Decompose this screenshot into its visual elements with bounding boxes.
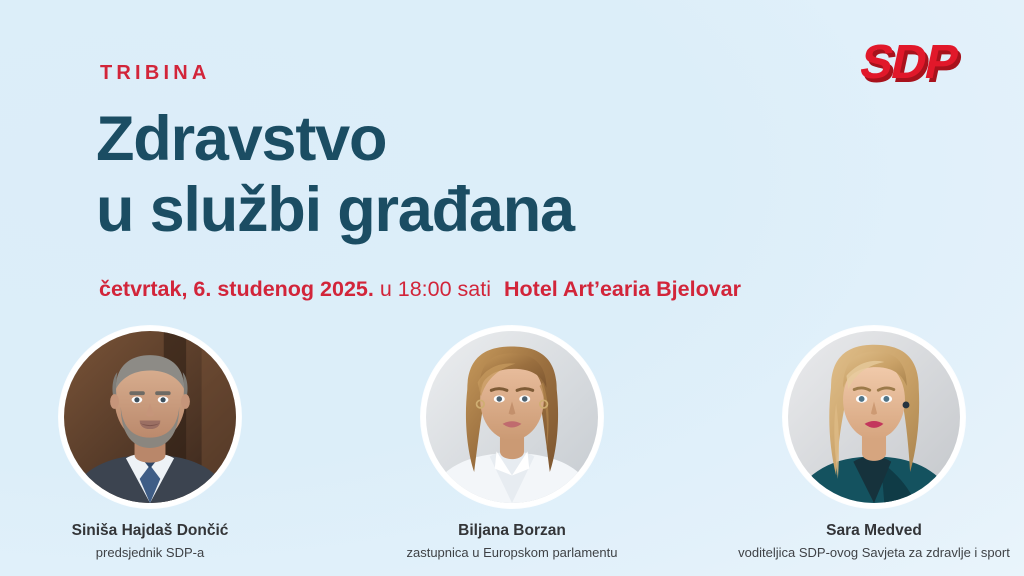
event-date: četvrtak, 6. studenog 2025. (99, 277, 374, 301)
sdp-logo: SDP SDP (858, 30, 998, 98)
speaker-card: Biljana Borzan zastupnica u Europskom pa… (398, 326, 626, 560)
portrait-sinisa-hajdas-doncic (64, 331, 236, 503)
event-time: u 18:00 sati (380, 277, 491, 301)
speaker-name: Sara Medved (826, 522, 922, 540)
speaker-card: Siniša Hajdaš Dončić predsjednik SDP-a (36, 326, 264, 560)
speaker-role: predsjednik SDP-a (96, 545, 204, 560)
avatar-ring (421, 326, 603, 508)
speaker-role: zastupnica u Europskom parlamentu (406, 545, 617, 560)
svg-text:SDP: SDP (858, 35, 962, 88)
speaker-name: Biljana Borzan (458, 522, 566, 540)
kicker-label: TRIBINA (100, 62, 211, 85)
event-datetime-venue: četvrtak, 6. studenog 2025. u 18:00 sati… (99, 277, 741, 302)
avatar-ring (783, 326, 965, 508)
speaker-role: voditeljica SDP-ovog Savjeta za zdravlje… (738, 545, 1010, 560)
portrait-sara-medved (788, 331, 960, 503)
speaker-card: Sara Medved voditeljica SDP-ovog Savjeta… (760, 326, 988, 560)
event-poster: SDP SDP TRIBINA Zdravstvo u službi građa… (0, 0, 1024, 576)
page-title: Zdravstvo u službi građana (96, 104, 574, 245)
avatar-ring (59, 326, 241, 508)
speaker-name: Siniša Hajdaš Dončić (72, 522, 229, 540)
event-venue: Hotel Art’earia Bjelovar (504, 277, 741, 301)
portrait-biljana-borzan (426, 331, 598, 503)
speakers-row: Siniša Hajdaš Dončić predsjednik SDP-a (0, 326, 1024, 560)
